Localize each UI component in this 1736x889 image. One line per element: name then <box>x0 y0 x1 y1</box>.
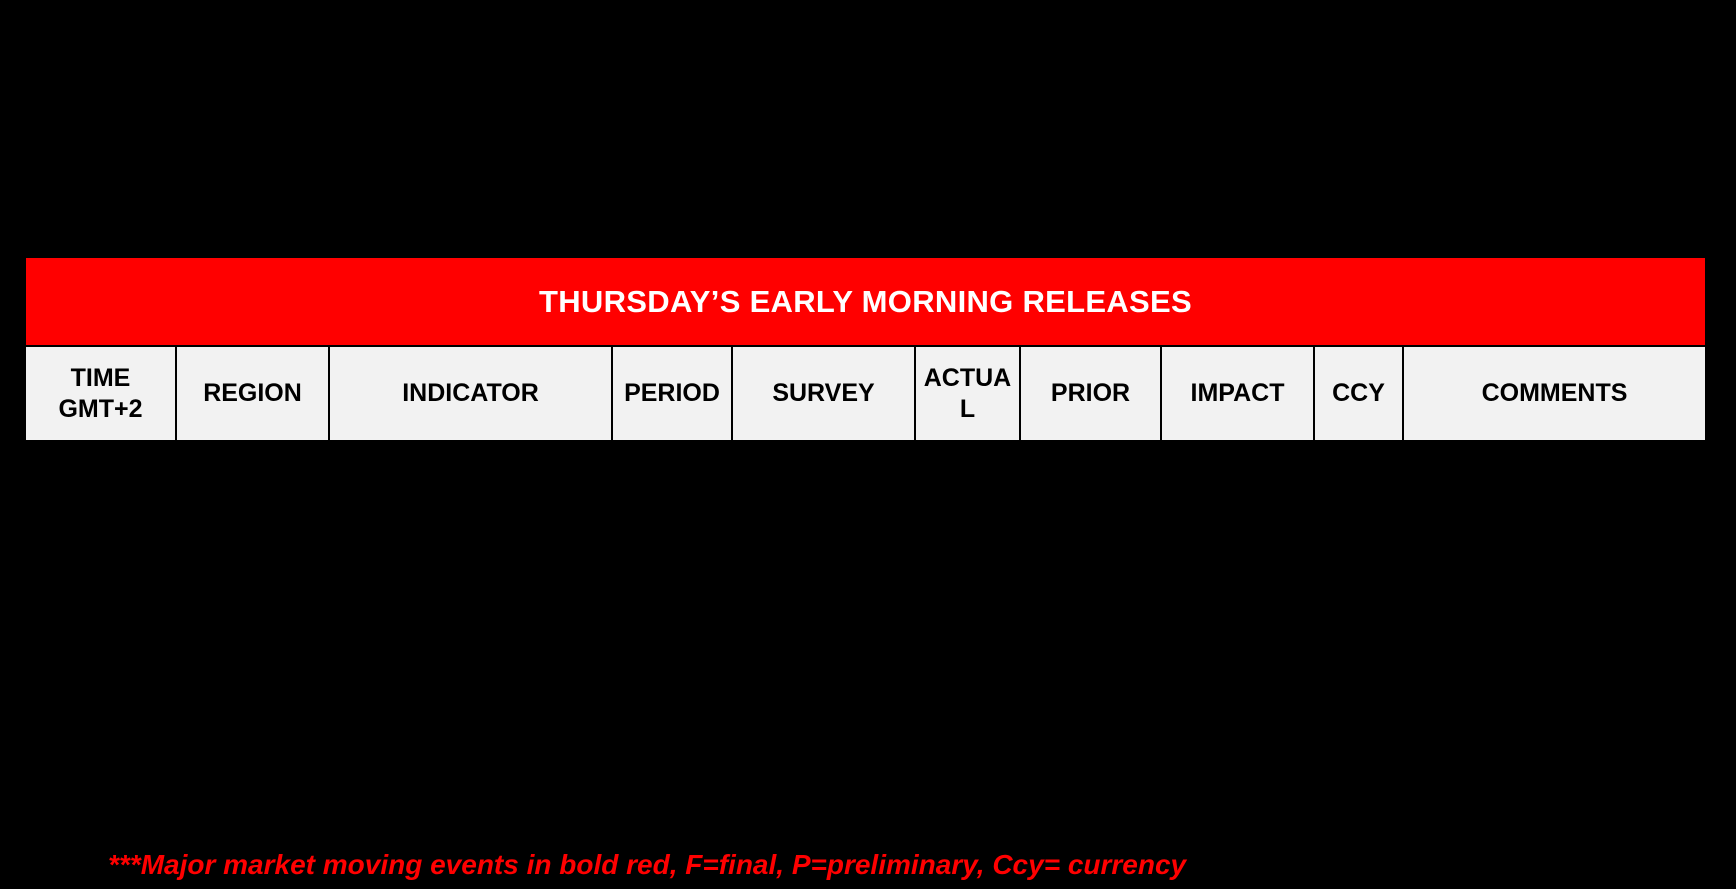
column-header-ccy-label: CCY <box>1319 378 1398 409</box>
column-header-actual[interactable]: ACTUAL <box>916 347 1021 440</box>
column-header-impact[interactable]: IMPACT <box>1162 347 1315 440</box>
column-header-survey[interactable]: SURVEY <box>733 347 916 440</box>
column-header-indicator[interactable]: INDICATOR <box>330 347 613 440</box>
footer-legend-note: ***Major market moving events in bold re… <box>108 848 1186 882</box>
column-header-indicator-label: INDICATOR <box>334 378 607 409</box>
column-header-prior[interactable]: PRIOR <box>1021 347 1162 440</box>
column-header-period-label: PERIOD <box>617 378 727 409</box>
column-header-impact-label: IMPACT <box>1166 378 1309 409</box>
column-header-region[interactable]: REGION <box>177 347 330 440</box>
column-header-period[interactable]: PERIOD <box>613 347 733 440</box>
column-header-prior-label: PRIOR <box>1025 378 1156 409</box>
economic-calendar-table: THURSDAY’S EARLY MORNING RELEASES TIME G… <box>26 258 1705 440</box>
table-header-row: TIME GMT+2 REGION INDICATOR PERIOD SURVE… <box>26 345 1705 440</box>
column-header-time[interactable]: TIME GMT+2 <box>26 347 177 440</box>
table-banner: THURSDAY’S EARLY MORNING RELEASES <box>26 258 1705 345</box>
column-header-actual-label: ACTUAL <box>920 363 1015 424</box>
banner-title: THURSDAY’S EARLY MORNING RELEASES <box>539 286 1192 317</box>
column-header-time-label: TIME GMT+2 <box>30 363 171 424</box>
column-header-ccy[interactable]: CCY <box>1315 347 1404 440</box>
column-header-region-label: REGION <box>181 378 324 409</box>
column-header-survey-label: SURVEY <box>737 378 910 409</box>
column-header-comments-label: COMMENTS <box>1408 378 1701 409</box>
column-header-comments[interactable]: COMMENTS <box>1404 347 1705 440</box>
